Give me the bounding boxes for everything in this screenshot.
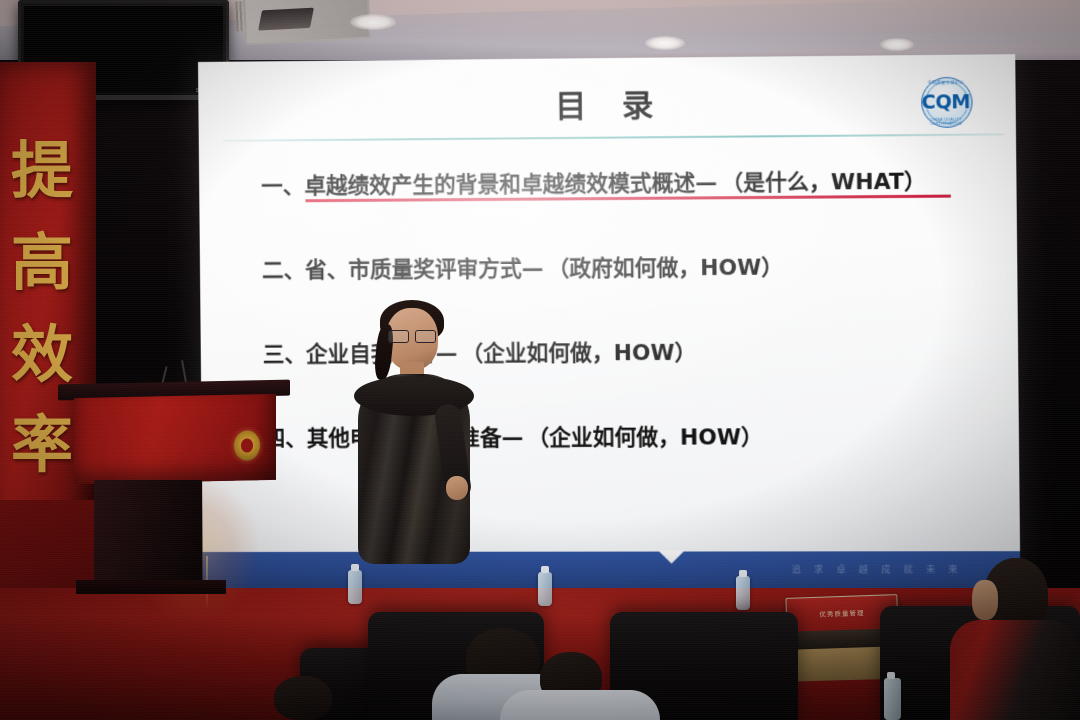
cqm-wordmark: CQM xyxy=(918,91,974,114)
footer-notch-shape xyxy=(658,551,685,564)
toc-main-text: 卓越绩效产生的背景和卓越绩效模式概述— xyxy=(304,171,717,199)
toc-item-2: 二、省、市质量奖评审方式—（政府如何做，HOW） xyxy=(262,249,1013,285)
podium-column xyxy=(94,480,202,592)
ceiling-light xyxy=(350,14,396,30)
audience-member xyxy=(950,558,1080,720)
person-head xyxy=(274,676,332,720)
person-shirt xyxy=(500,690,660,720)
audience-member xyxy=(256,676,348,720)
audience-member xyxy=(500,652,660,720)
person-shirt xyxy=(950,620,1080,720)
banner-char: 提 xyxy=(0,140,90,202)
water-bottle xyxy=(736,576,750,610)
speaker-podium xyxy=(58,382,290,592)
toc-main-text: 省、市质量奖评审方式— xyxy=(305,257,544,284)
person-face xyxy=(972,580,998,620)
conference-photo-scene: Sharp 提 高 效 率 目 录 中国质量认证中心 CQM CHINA QUA… xyxy=(0,0,1080,720)
slide-canvas: 目 录 中国质量认证中心 CQM CHINA QUALITY CERTIFICA… xyxy=(198,54,1020,568)
water-bottle xyxy=(538,572,552,606)
projection-screen: 目 录 中国质量认证中心 CQM CHINA QUALITY CERTIFICA… xyxy=(198,54,1020,592)
toc-number: 三、 xyxy=(263,343,306,368)
toc-tail-text: （企业如何做，HOW） xyxy=(527,425,763,451)
podium-front-panel xyxy=(74,394,276,484)
toc-item-1: 一、卓越绩效产生的背景和卓越绩效模式概述—（是什么，WHAT） xyxy=(261,164,1012,201)
glasses-icon xyxy=(388,330,436,341)
toc-tail-text: （政府如何做，HOW） xyxy=(547,255,783,282)
toc-number: 一、 xyxy=(261,174,304,199)
ceiling-light xyxy=(880,38,914,51)
water-bottle xyxy=(348,570,362,604)
slide-footer-bar: 追 求 卓 越 成 就 未 来 xyxy=(203,551,1021,592)
cqm-logo: 中国质量认证中心 CQM CHINA QUALITY CERTIFICATION xyxy=(913,77,979,128)
banner-char: 效 xyxy=(0,324,90,386)
presenter-hand xyxy=(446,476,468,500)
podium-base xyxy=(76,580,226,594)
presenter xyxy=(352,300,476,600)
toc-tail-text: （企业如何做，HOW） xyxy=(461,341,696,367)
slide-title: 目 录 xyxy=(198,76,1016,129)
toc-number: 二、 xyxy=(262,258,305,283)
ceiling-light xyxy=(645,36,685,50)
slide-footer-text: 追 求 卓 越 成 就 未 来 xyxy=(792,562,963,575)
cqm-bottom-text: CHINA QUALITY CERTIFICATION xyxy=(921,117,970,126)
cqm-top-text: 中国质量认证中心 xyxy=(921,80,970,87)
title-divider xyxy=(223,133,1004,141)
podium-emblem-icon xyxy=(234,430,260,461)
water-bottle xyxy=(884,678,901,720)
toc-tail-text: （是什么，WHAT） xyxy=(721,169,926,196)
banner-char: 高 xyxy=(0,232,90,294)
